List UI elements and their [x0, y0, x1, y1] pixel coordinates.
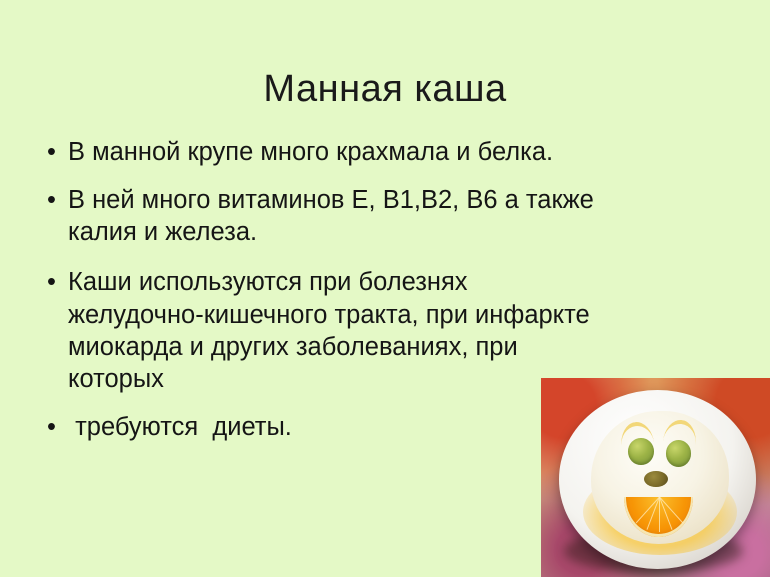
olive-eye-left: [628, 438, 654, 465]
olive-nose: [644, 471, 668, 487]
list-item-text: Каши используются при болезнях желудочно…: [68, 266, 596, 395]
bullet-dot-icon: •: [47, 266, 56, 298]
list-item-text: требуются диеты.: [68, 411, 596, 443]
slide-canvas: Манная каша • В манной крупе много крахм…: [0, 0, 770, 577]
list-item-text: В ней много витаминов Е, В1,В2, В6 а так…: [68, 184, 596, 248]
bullet-list: • В манной крупе много крахмала и белка.…: [36, 136, 596, 443]
list-item: • В ней много витаминов Е, В1,В2, В6 а т…: [36, 184, 596, 248]
list-item-text: В манной крупе много крахмала и белка.: [68, 136, 596, 168]
bullet-dot-icon: •: [47, 184, 56, 216]
orange-segment-line: [659, 497, 660, 532]
list-item: • Каши используются при болезнях желудоч…: [36, 266, 596, 395]
page-title: Манная каша: [0, 69, 770, 111]
list-item: • В манной крупе много крахмала и белка.: [36, 136, 596, 168]
bullet-dot-icon: •: [47, 411, 56, 443]
bullet-dot-icon: •: [47, 136, 56, 168]
olive-eye-right: [666, 440, 692, 467]
list-item: • требуются диеты.: [36, 411, 596, 443]
